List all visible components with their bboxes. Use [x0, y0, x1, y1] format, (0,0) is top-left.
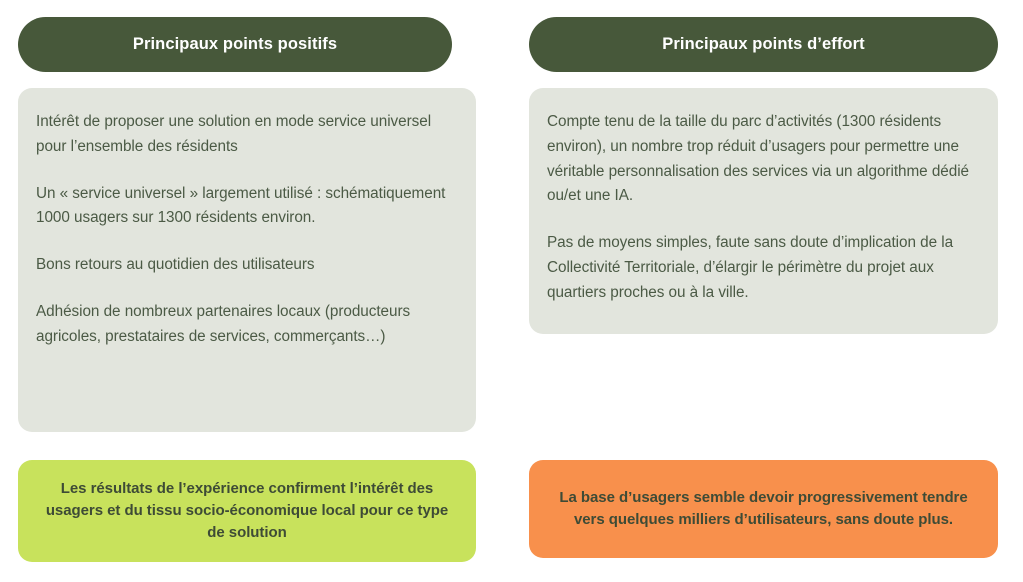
- body-card-positive: Intérêt de proposer une solution en mode…: [18, 88, 476, 432]
- header-pill-positive: Principaux points positifs: [18, 17, 452, 72]
- callout-effort-conclusion: La base d’usagers semble devoir progress…: [529, 460, 998, 558]
- body-card-effort: Compte tenu de la taille du parc d’activ…: [529, 88, 998, 334]
- header-pill-effort: Principaux points d’effort: [529, 17, 998, 72]
- paragraph-positive-1: Intérêt de proposer une solution en mode…: [36, 110, 450, 160]
- column-positive-points: Principaux points positifs Intérêt de pr…: [18, 0, 476, 582]
- paragraph-effort-2: Pas de moyens simples, faute sans doute …: [547, 231, 972, 305]
- paragraph-positive-2: Un « service universel » largement utili…: [36, 182, 450, 232]
- header-title-effort: Principaux points d’effort: [662, 35, 864, 55]
- callout-effort-text: La base d’usagers semble devoir progress…: [549, 487, 978, 531]
- paragraph-positive-4: Adhésion de nombreux partenaires locaux …: [36, 300, 450, 350]
- header-title-positive: Principaux points positifs: [133, 35, 337, 55]
- slide-canvas: Principaux points positifs Intérêt de pr…: [0, 0, 1023, 582]
- callout-positive-conclusion: Les résultats de l’expérience confirment…: [18, 460, 476, 562]
- callout-positive-text: Les résultats de l’expérience confirment…: [38, 478, 456, 543]
- paragraph-effort-1: Compte tenu de la taille du parc d’activ…: [547, 110, 972, 209]
- column-effort-points: Principaux points d’effort Compte tenu d…: [529, 0, 998, 582]
- paragraph-positive-3: Bons retours au quotidien des utilisateu…: [36, 253, 450, 278]
